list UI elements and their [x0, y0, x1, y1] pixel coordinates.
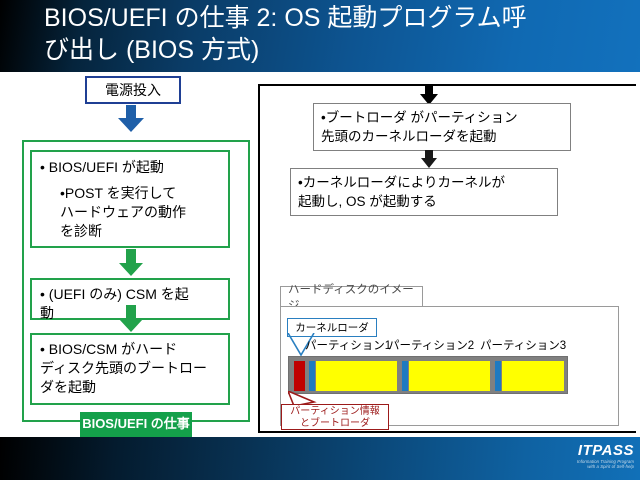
page-title: BIOS/UEFI の仕事 2: OS 起動プログラム呼 び出し (BIOS 方…: [44, 2, 630, 66]
partition-label-3: パーティション3: [480, 337, 566, 353]
itpass-logo: ITPASS Information Training Program with…: [577, 443, 634, 470]
partition-label-2: パーティション2: [388, 337, 474, 353]
partition-block-1: [316, 361, 397, 391]
slide: BIOS/UEFI の仕事 2: OS 起動プログラム呼 び出し (BIOS 方…: [0, 0, 640, 480]
kernel-loader-block-3: [495, 361, 501, 391]
itpass-logo-text: ITPASS: [577, 443, 634, 458]
step-bios-start-line2: •POST を実行して ハードウェアの動作 を診断: [60, 184, 226, 241]
step-kernel-boots-os: •カーネルローダによりカーネルが 起動し, OS が起動する: [290, 168, 558, 216]
harddisk-panel-tab: ハードディスクのイメージ: [280, 286, 423, 307]
kernel-loader-block-2: [402, 361, 408, 391]
boot-info-callout: パーティション情報 とブートローダ: [281, 404, 389, 430]
step-bios-start: • BIOS/UEFI が起動 •POST を実行して ハードウェアの動作 を診…: [30, 150, 230, 248]
slide-header: BIOS/UEFI の仕事 2: OS 起動プログラム呼 び出し (BIOS 方…: [0, 0, 640, 72]
partition-label-1: パーティション1: [305, 337, 391, 353]
step-bootloader-loads-kernelloader: •ブートローダ がパーティション 先頭のカーネルローダを起動: [313, 103, 571, 151]
itpass-logo-tagline: Information Training Program with a Spir…: [577, 459, 634, 470]
step-kernel-boots-os-text: •カーネルローダによりカーネルが 起動し, OS が起動する: [298, 173, 552, 211]
power-on-box: 電源投入: [85, 76, 181, 104]
harddisk-bar: [288, 356, 568, 394]
power-on-label: 電源投入: [105, 80, 161, 100]
step-bootloader-start-text: • BIOS/CSM がハード ディスク先頭のブートロー ダを起動: [40, 340, 226, 397]
mbr-block: [294, 361, 305, 391]
partition-block-2: [409, 361, 490, 391]
partition-labels: パーティション1 パーティション2 パーティション3: [305, 337, 625, 353]
step-bootloader-start: • BIOS/CSM がハード ディスク先頭のブートロー ダを起動: [30, 333, 230, 405]
step-bios-start-line1: • BIOS/UEFI が起動: [40, 158, 164, 177]
slide-footer: [0, 437, 640, 480]
blue-down-arrow-icon: [117, 105, 145, 133]
step-bootloader-loads-kernelloader-text: •ブートローダ がパーティション 先頭のカーネルローダを起動: [321, 108, 565, 146]
green-down-arrow-2-icon: [118, 305, 144, 333]
kernel-loader-block-1: [309, 361, 315, 391]
green-down-arrow-1-icon: [118, 249, 144, 277]
gray-down-arrow-icon: [420, 150, 438, 169]
partition-block-3: [502, 361, 564, 391]
